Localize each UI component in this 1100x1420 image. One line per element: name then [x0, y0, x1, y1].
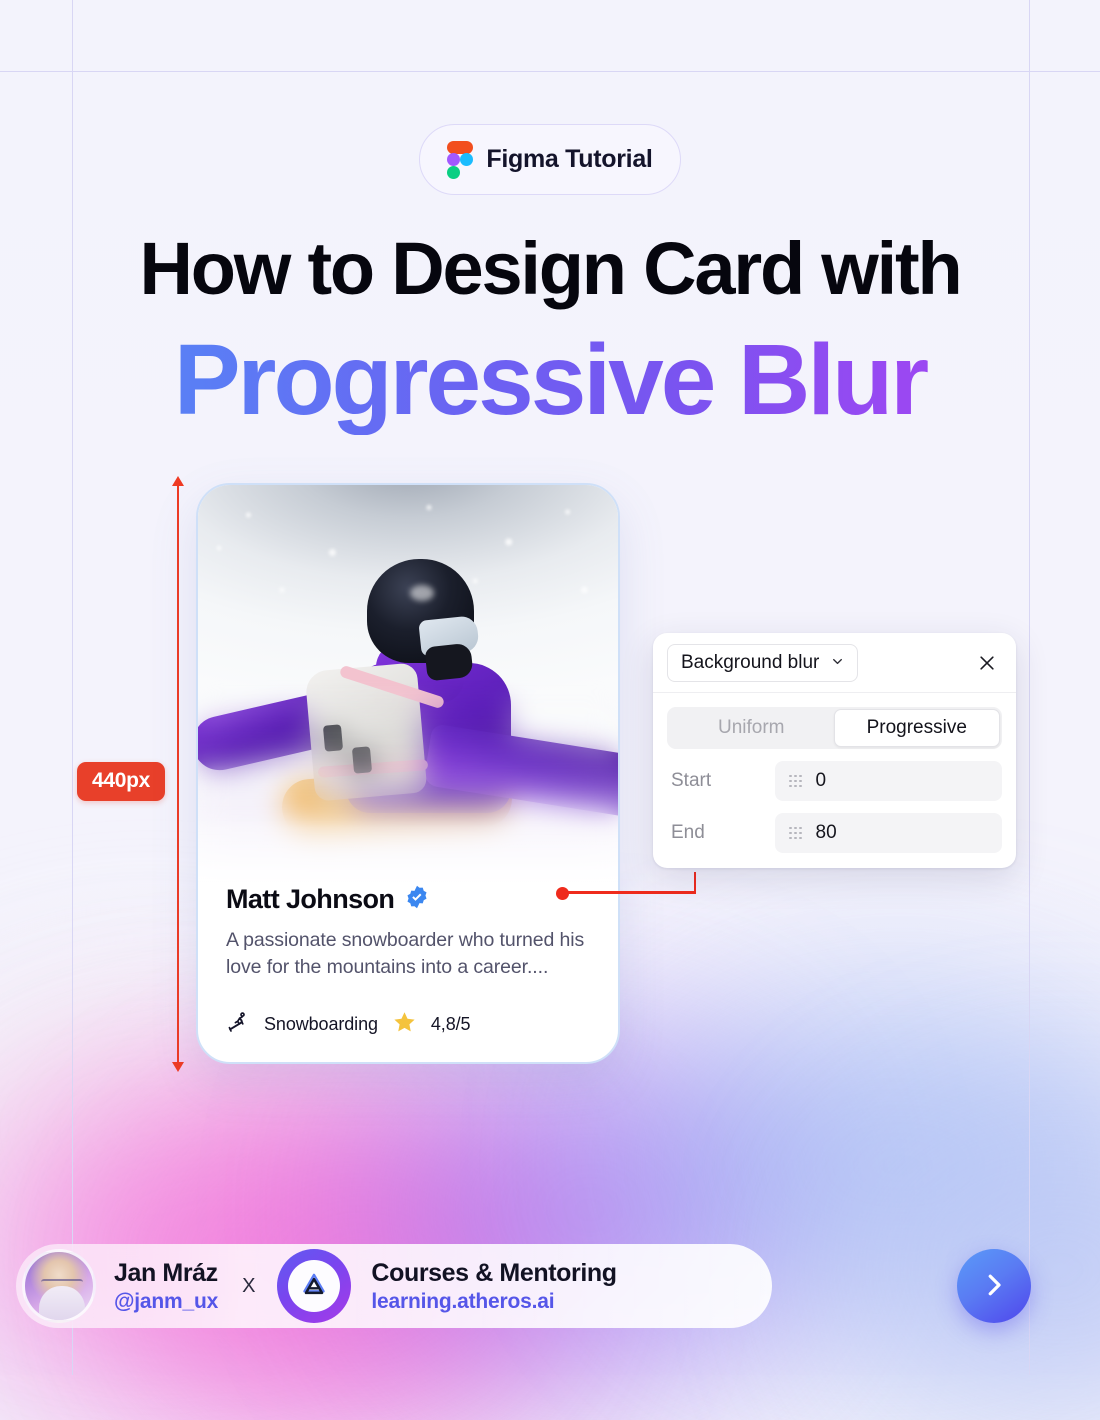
start-label: Start — [667, 770, 775, 792]
author-handle: @janm_ux — [114, 1290, 218, 1314]
end-label: End — [667, 822, 775, 844]
background-blur-panel[interactable]: Background blur Uniform Progressive Star… — [653, 633, 1016, 868]
helmet-highlight — [410, 585, 434, 601]
card-sport-label: Snowboarding — [264, 1014, 378, 1035]
figma-logo-icon — [447, 141, 473, 179]
progressive-blur-overlay — [198, 680, 618, 885]
author-name: Jan Mráz — [114, 1259, 218, 1288]
figma-tutorial-badge: Figma Tutorial — [419, 124, 681, 195]
brand-info: Courses & Mentoring learning.atheros.ai — [371, 1259, 616, 1314]
blur-type-select[interactable]: Background blur — [667, 644, 858, 682]
next-slide-button[interactable] — [957, 1249, 1031, 1323]
field-row-start: Start 0 — [667, 761, 1002, 801]
callout-line-horizontal — [566, 891, 696, 894]
arrow-head-up-icon — [172, 476, 184, 486]
measurement-badge: 440px — [77, 762, 165, 801]
start-value: 0 — [816, 770, 827, 792]
close-icon[interactable] — [974, 650, 1000, 676]
badge-label: Figma Tutorial — [486, 145, 652, 174]
callout-line-vertical — [694, 872, 697, 893]
card-meta-row: Snowboarding 4,8/5 — [226, 1010, 590, 1040]
card-photo — [198, 485, 618, 885]
card-rating-value: 4,8/5 — [431, 1014, 471, 1035]
author-info: Jan Mráz @janm_ux — [114, 1259, 218, 1314]
end-input[interactable]: 80 — [775, 813, 1002, 853]
separator-x: X — [242, 1275, 255, 1298]
blur-type-label: Background blur — [681, 652, 819, 674]
panel-header: Background blur — [653, 633, 1016, 693]
blur-mode-segmented-control[interactable]: Uniform Progressive — [667, 707, 1002, 749]
blur-mode-progressive[interactable]: Progressive — [834, 709, 1001, 747]
drag-dots-icon[interactable] — [789, 775, 802, 788]
avatar-body — [39, 1286, 85, 1323]
start-input[interactable]: 0 — [775, 761, 1002, 801]
panel-body: Uniform Progressive Start 0 End 80 — [653, 693, 1016, 853]
brand-name: Courses & Mentoring — [371, 1259, 616, 1288]
guide-line-top — [0, 71, 1100, 72]
card-name: Matt Johnson — [226, 884, 394, 915]
chevron-right-icon — [979, 1270, 1009, 1303]
arrow-head-down-icon — [172, 1062, 184, 1072]
profile-card[interactable]: Matt Johnson A passionate snowboarder wh… — [196, 483, 620, 1064]
card-description: A passionate snowboarder who turned his … — [226, 927, 586, 981]
callout-dot — [556, 887, 569, 900]
verified-badge-icon — [404, 884, 430, 915]
atheros-logo-inner — [288, 1260, 340, 1312]
avatar-glasses — [41, 1279, 83, 1288]
page-title-line1: How to Design Card with — [0, 232, 1100, 306]
card-name-row: Matt Johnson — [226, 884, 590, 915]
brand-url: learning.atheros.ai — [371, 1290, 616, 1314]
star-icon — [392, 1010, 417, 1040]
guide-line-left — [72, 0, 73, 1375]
blur-mode-uniform[interactable]: Uniform — [669, 709, 834, 747]
end-value: 80 — [816, 822, 837, 844]
measurement-arrow-line — [177, 485, 179, 1063]
field-row-end: End 80 — [667, 813, 1002, 853]
guide-line-right — [1029, 0, 1030, 1375]
drag-dots-icon[interactable] — [789, 827, 802, 840]
footer-credits-bar: Jan Mráz @janm_ux X Courses & Mentoring … — [16, 1244, 772, 1328]
chevron-down-icon — [831, 652, 844, 674]
atheros-logo-icon — [277, 1249, 351, 1323]
snowboarder-icon — [226, 1010, 250, 1039]
avatar — [22, 1249, 96, 1323]
face-mask — [424, 643, 473, 682]
card-body: Matt Johnson A passionate snowboarder wh… — [198, 870, 618, 1062]
page-title-line2: Progressive Blur — [0, 325, 1100, 435]
